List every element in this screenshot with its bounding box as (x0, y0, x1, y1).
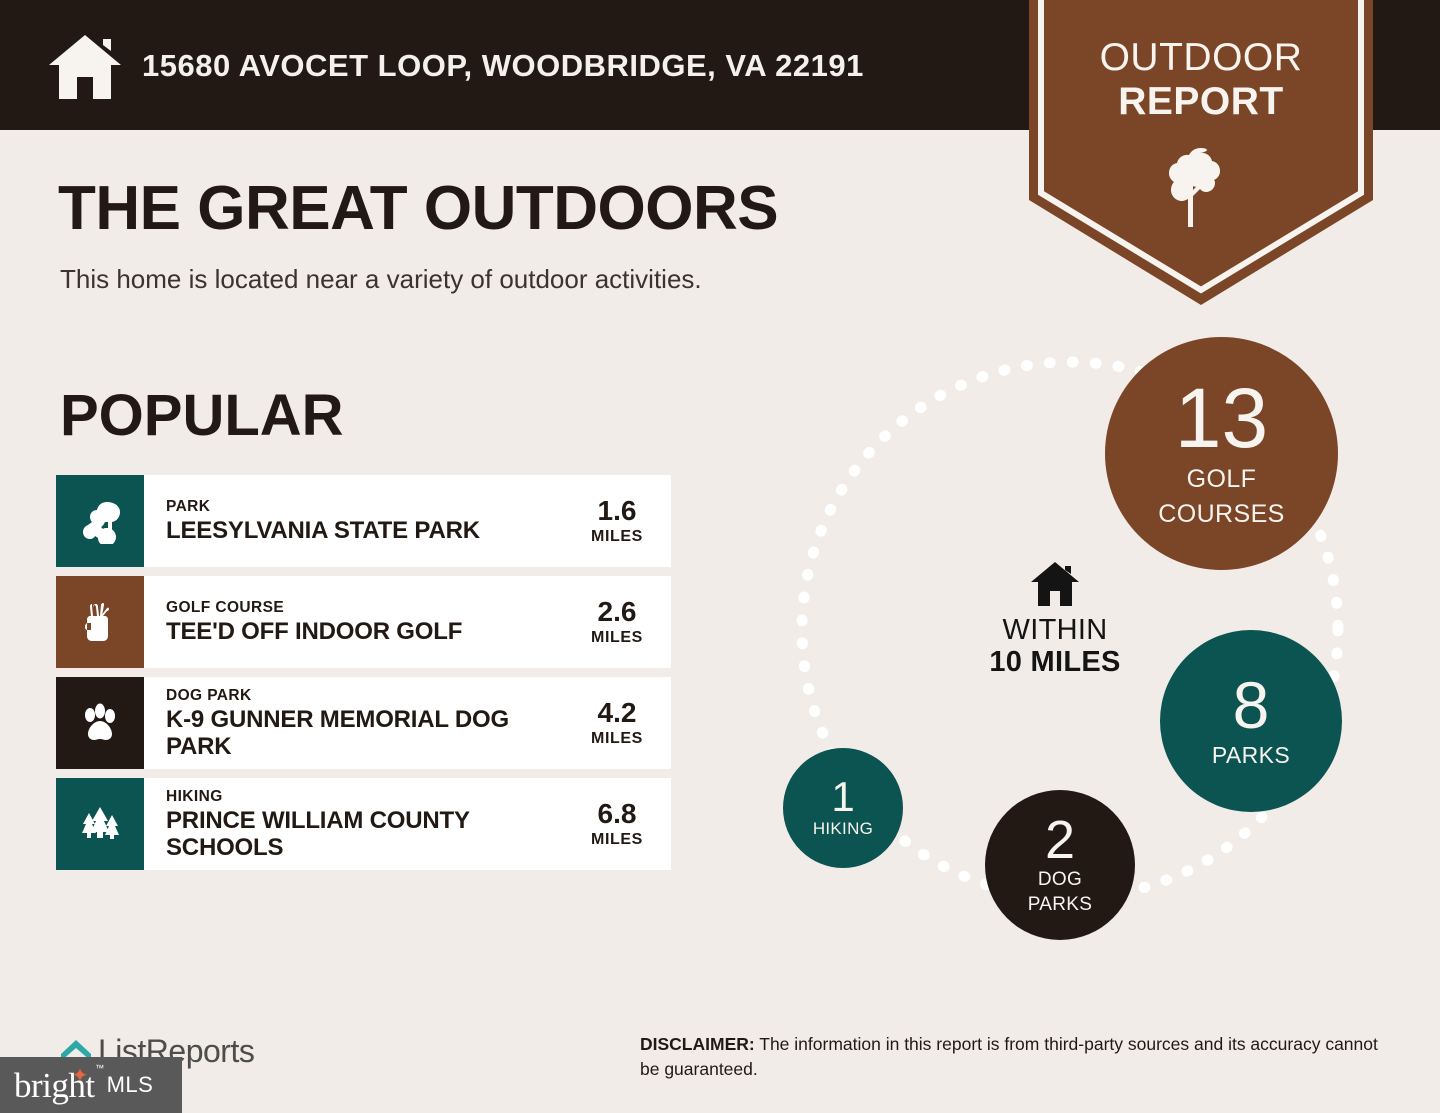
bubble-label-line-2: COURSES (1158, 501, 1284, 528)
list-item-distance: 4.2 MILES (575, 699, 667, 748)
bubble-label-line-1: GOLF (1187, 466, 1257, 493)
disclaimer: DISCLAIMER: The information in this repo… (640, 1032, 1400, 1082)
list-item-category: HIKING (166, 787, 575, 806)
list-item-category: GOLF COURSE (166, 598, 575, 617)
distance-value: 1.6 (575, 497, 659, 525)
paw-print-icon (56, 677, 144, 769)
house-icon (1029, 560, 1081, 608)
popular-places-list: PARK LEESYLVANIA STATE PARK 1.6 MILES (56, 475, 671, 879)
list-item[interactable]: GOLF COURSE TEE'D OFF INDOOR GOLF 2.6 MI… (56, 576, 671, 668)
bubble-label-line-2: PARKS (1028, 895, 1093, 916)
distance-unit: MILES (575, 730, 659, 748)
golf-bag-icon (56, 576, 144, 668)
distance-unit: MILES (575, 831, 659, 849)
list-item-name: PRINCE WILLIAM COUNTY SCHOOLS (166, 808, 575, 861)
bright-mls-watermark: bright ✦ ™ MLS (0, 1057, 182, 1113)
chart-center-label: WITHIN 10 MILES (935, 560, 1175, 679)
list-item-distance: 6.8 MILES (575, 800, 667, 849)
bubble-label-line-1: PARKS (1212, 743, 1290, 768)
within-10-miles-bubble-chart: 13 GOLF COURSES 8 PARKS 2 DOG PARKS 1 HI… (740, 330, 1400, 960)
page-subtitle: This home is located near a variety of o… (60, 264, 702, 295)
bright-wordmark: bright ✦ ™ (14, 1068, 95, 1103)
house-icon (45, 31, 125, 103)
bubble-label-line-1: DOG (1038, 870, 1082, 891)
list-item-category: PARK (166, 497, 575, 516)
outdoor-report-page: 15680 AVOCET LOOP, WOODBRIDGE, VA 22191 … (0, 0, 1440, 1113)
tree-icon (1162, 145, 1240, 229)
list-item-distance: 2.6 MILES (575, 598, 667, 647)
bubble-value: 1 (831, 777, 854, 817)
bubble-golf-courses[interactable]: 13 GOLF COURSES (1105, 337, 1338, 570)
bubble-value: 2 (1045, 815, 1075, 866)
trademark-symbol: ™ (95, 1064, 104, 1073)
list-item-name: K-9 GUNNER MEMORIAL DOG PARK (166, 707, 575, 760)
page-title: THE GREAT OUTDOORS (58, 178, 778, 240)
center-line-2: 10 MILES (935, 646, 1175, 678)
distance-value: 6.8 (575, 800, 659, 828)
disclaimer-label: DISCLAIMER: (640, 1034, 755, 1054)
distance-value: 2.6 (575, 598, 659, 626)
bubble-label-line-1: HIKING (813, 820, 873, 838)
distance-unit: MILES (575, 528, 659, 546)
bubble-hiking[interactable]: 1 HIKING (783, 748, 903, 868)
pine-trees-icon (56, 778, 144, 870)
bubble-dog-parks[interactable]: 2 DOG PARKS (985, 790, 1135, 940)
park-tree-icon (56, 475, 144, 567)
bubble-value: 8 (1233, 674, 1270, 737)
popular-heading: POPULAR (60, 382, 344, 449)
property-address: 15680 AVOCET LOOP, WOODBRIDGE, VA 22191 (142, 48, 864, 84)
list-item-name: LEESYLVANIA STATE PARK (166, 518, 575, 544)
list-item-name: TEE'D OFF INDOOR GOLF (166, 619, 575, 645)
list-item[interactable]: DOG PARK K-9 GUNNER MEMORIAL DOG PARK 4.… (56, 677, 671, 769)
bubble-value: 13 (1175, 379, 1268, 459)
star-icon: ✦ (72, 1066, 90, 1084)
bubble-parks[interactable]: 8 PARKS (1160, 630, 1342, 812)
mls-label: MLS (107, 1072, 154, 1098)
list-item-distance: 1.6 MILES (575, 497, 667, 546)
list-item-category: DOG PARK (166, 686, 575, 705)
list-item[interactable]: PARK LEESYLVANIA STATE PARK 1.6 MILES (56, 475, 671, 567)
center-line-1: WITHIN (935, 614, 1175, 646)
distance-value: 4.2 (575, 699, 659, 727)
list-item[interactable]: HIKING PRINCE WILLIAM COUNTY SCHOOLS 6.8… (56, 778, 671, 870)
outdoor-report-badge: OUTDOOR REPORT (1029, 0, 1373, 305)
distance-unit: MILES (575, 629, 659, 647)
